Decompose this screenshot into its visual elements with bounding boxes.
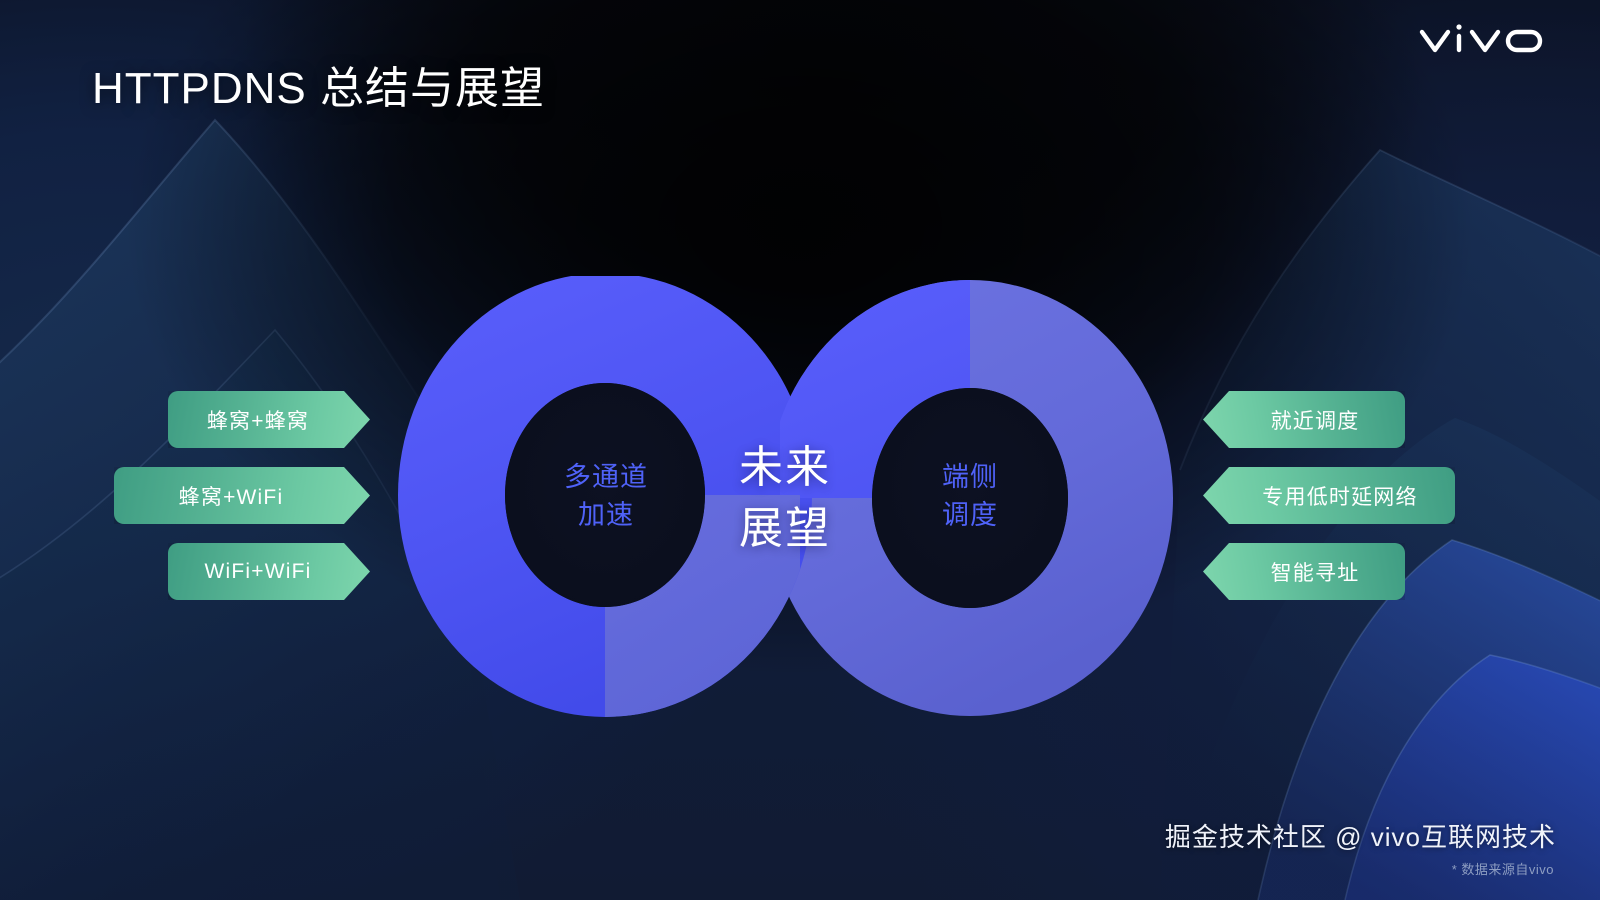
left-tag-label: 蜂窝+WiFi (179, 481, 284, 511)
infinity-svg (380, 276, 1200, 726)
left-tag-wifi-wifi[interactable]: WiFi+WiFi (168, 543, 370, 600)
right-tag-label: 专用低时延网络 (1262, 481, 1417, 511)
left-tag-cellular-wifi[interactable]: 蜂窝+WiFi (114, 467, 370, 524)
right-tag-label: 就近调度 (1271, 405, 1360, 435)
right-tag-smart-addressing[interactable]: 智能寻址 (1203, 543, 1405, 600)
infinity-diagram (380, 276, 1200, 726)
right-tag-nearby-scheduling[interactable]: 就近调度 (1203, 391, 1405, 448)
left-tag-label: 蜂窝+蜂窝 (207, 405, 309, 435)
watermark: 掘金技术社区 @ vivo互联网技术 (1165, 817, 1556, 854)
source-note: * 数据来源自vivo (1452, 859, 1554, 878)
right-tag-dedicated-low-latency-network[interactable]: 专用低时延网络 (1203, 467, 1455, 524)
page-title: HTTPDNS 总结与展望 (92, 52, 545, 116)
left-tag-label: WiFi+WiFi (204, 560, 311, 584)
slide-canvas: HTTPDNS 总结与展望 (0, 0, 1600, 900)
left-tag-cellular-cellular[interactable]: 蜂窝+蜂窝 (168, 391, 370, 448)
right-tag-label: 智能寻址 (1271, 557, 1360, 587)
vivo-logo (1418, 16, 1544, 62)
